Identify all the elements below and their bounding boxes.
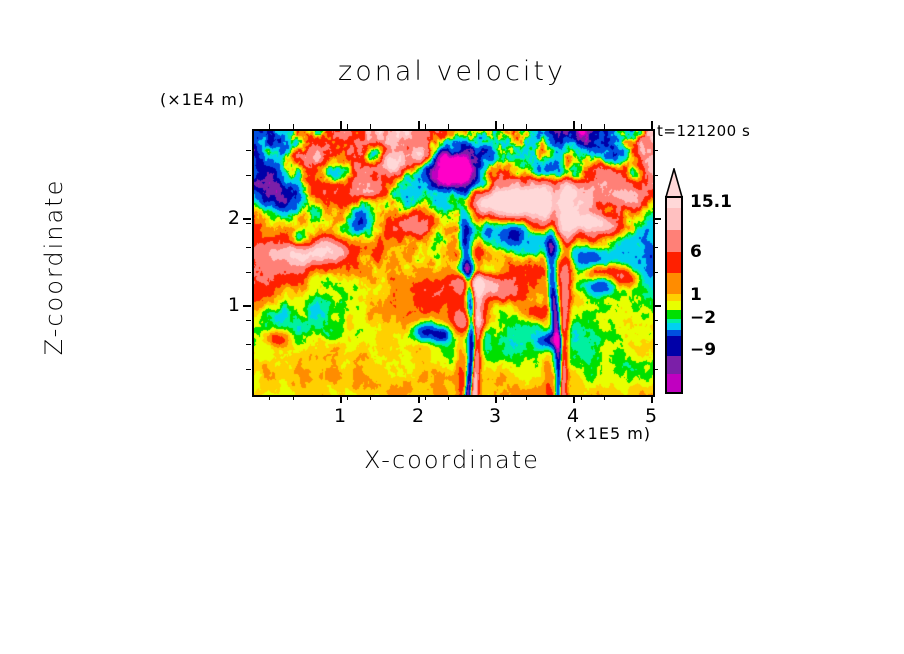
y-axis-title: Z-coordinate	[40, 147, 68, 387]
x-major-tick-top-1	[418, 121, 420, 129]
page-title: zonal velocity	[0, 56, 904, 87]
colorbar-band-1	[665, 208, 683, 230]
x-minor-tick-0	[269, 395, 270, 400]
colorbar-extend-arrow	[665, 168, 683, 198]
x-minor-tick-top-1	[293, 124, 294, 129]
y-minor-tick-right-1	[653, 344, 658, 345]
y-major-tick-right-1	[653, 218, 661, 220]
x-minor-tick-5	[448, 395, 449, 400]
time-annotation: t=121200 s	[657, 122, 750, 140]
colorbar	[665, 196, 683, 394]
colorbar-band-11	[665, 336, 683, 356]
x-major-tick-top-3	[573, 121, 575, 129]
colorbar-band-7	[665, 310, 683, 319]
y-minor-tick-6	[246, 175, 251, 176]
colorbar-band-4	[665, 273, 683, 294]
colorbar-band-9	[665, 323, 683, 330]
x-minor-tick-1	[293, 395, 294, 400]
y-minor-tick-5	[246, 223, 251, 224]
colorbar-band-3	[665, 252, 683, 273]
colorbar-band-6	[665, 301, 683, 310]
x-minor-tick-6	[503, 395, 504, 400]
y-minor-tick-3	[246, 272, 251, 273]
x-minor-tick-2	[347, 395, 348, 400]
x-major-tick-top-0	[340, 121, 342, 129]
colorbar-band-2	[665, 230, 683, 252]
z-axis-unit-label: (×1E4 m)	[160, 90, 245, 109]
y-minor-tick-right-4	[653, 247, 658, 248]
colorbar-band-5	[665, 294, 683, 301]
colorbar-band-12	[665, 356, 683, 374]
x-minor-tick-top-6	[503, 124, 504, 129]
y-tick-label-1: 2	[216, 207, 240, 229]
x-tick-label-1: 2	[412, 405, 424, 427]
x-minor-tick-4	[425, 395, 426, 400]
y-minor-tick-7	[246, 150, 251, 151]
y-major-tick-1	[243, 218, 251, 220]
contour-field-canvas	[254, 131, 653, 395]
y-minor-tick-right-7	[653, 150, 658, 151]
x-minor-tick-top-7	[526, 124, 527, 129]
x-major-tick-1	[418, 395, 420, 403]
x-minor-tick-top-4	[425, 124, 426, 129]
x-tick-label-0: 1	[334, 405, 346, 427]
x-minor-tick-top-9	[604, 124, 605, 129]
x-minor-tick-top-2	[347, 124, 348, 129]
x-major-tick-0	[340, 395, 342, 403]
contour-plot-area	[252, 129, 655, 397]
x-tick-label-3: 4	[567, 405, 579, 427]
y-minor-tick-2	[246, 320, 251, 321]
x-major-tick-3	[573, 395, 575, 403]
y-minor-tick-right-0	[653, 369, 658, 370]
colorbar-bottom-border	[665, 392, 683, 394]
x-major-tick-2	[495, 395, 497, 403]
y-minor-tick-4	[246, 247, 251, 248]
x-major-tick-top-2	[495, 121, 497, 129]
y-minor-tick-1	[246, 344, 251, 345]
x-major-tick-top-4	[651, 121, 653, 129]
x-tick-label-4: 5	[645, 405, 657, 427]
y-minor-tick-0	[246, 369, 251, 370]
colorbar-tick-label-2: 1	[690, 285, 702, 305]
x-minor-tick-9	[604, 395, 605, 400]
y-major-tick-0	[243, 305, 251, 307]
colorbar-tick-label-3: −2	[690, 308, 716, 328]
colorbar-top-border	[665, 196, 683, 198]
x-minor-tick-8	[581, 395, 582, 400]
y-minor-tick-right-3	[653, 272, 658, 273]
colorbar-tick-label-0: 15.1	[690, 192, 732, 212]
y-minor-tick-right-2	[653, 320, 658, 321]
y-tick-label-0: 1	[216, 294, 240, 316]
x-major-tick-4	[651, 395, 653, 403]
y-major-tick-right-0	[653, 305, 661, 307]
colorbar-tick-label-4: −9	[690, 340, 716, 360]
x-minor-tick-top-3	[370, 124, 371, 129]
x-minor-tick-7	[526, 395, 527, 400]
x-axis-title: X-coordinate	[0, 446, 904, 474]
y-minor-tick-right-6	[653, 175, 658, 176]
x-minor-tick-top-0	[269, 124, 270, 129]
x-minor-tick-top-5	[448, 124, 449, 129]
colorbar-tick-label-1: 6	[690, 242, 702, 262]
y-minor-tick-right-5	[653, 223, 658, 224]
x-minor-tick-3	[370, 395, 371, 400]
x-tick-label-2: 3	[489, 405, 501, 427]
colorbar-band-13	[665, 374, 683, 392]
x-minor-tick-top-8	[581, 124, 582, 129]
